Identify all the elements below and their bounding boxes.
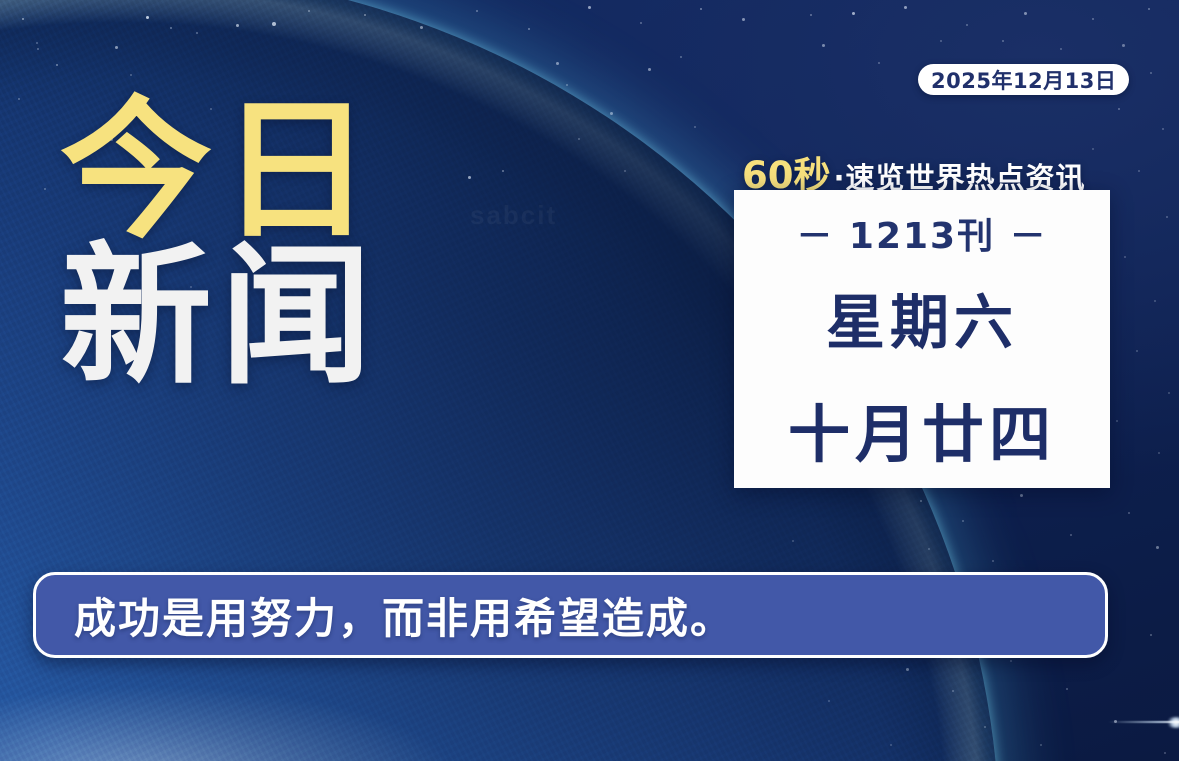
quote-text: 成功是用努力，而非用希望造成。 [74,585,734,646]
issue-number: － 1213刊 － [796,207,1047,259]
date-badge: 2025年12月13日 [918,64,1129,95]
brand-title-line1: 今日 [60,98,380,244]
brand-title: 今日 新闻 [60,98,380,390]
quote-banner: 成功是用努力，而非用希望造成。 [33,572,1108,658]
weekday-label: 星期六 [826,275,1018,360]
news-poster: 今日 新闻 sabcit 2025年12月13日 60秒 ·速览世界热点资讯 －… [0,0,1179,761]
watermark-text: sabcit [470,200,557,231]
brand-title-line2: 新闻 [60,244,380,390]
date-badge-label: 2025年12月13日 [931,65,1116,95]
date-card: － 1213刊 － 星期六 十月廿四 [734,190,1110,488]
lunar-date-label: 十月廿四 [788,384,1056,474]
